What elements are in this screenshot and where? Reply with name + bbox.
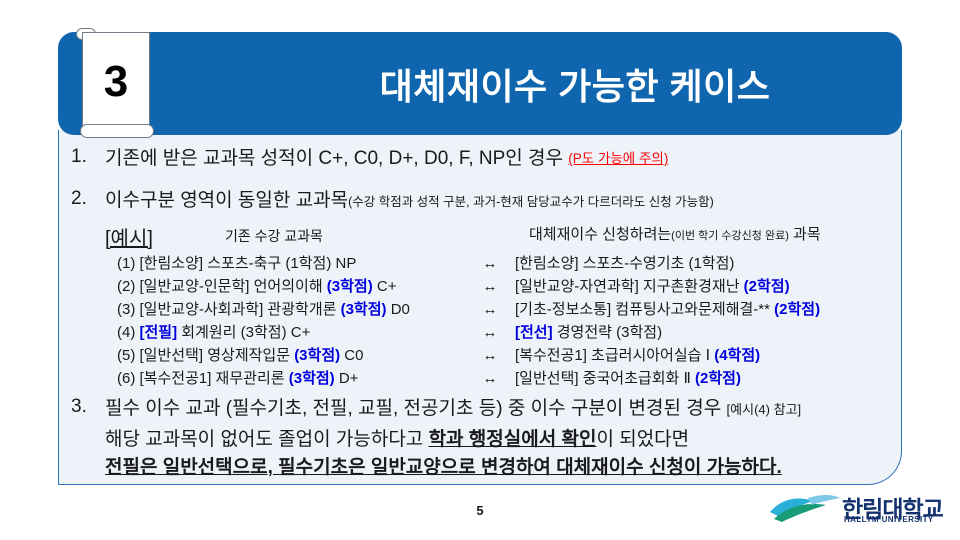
list-item-1-note: (P도 가능에 주의) — [568, 151, 668, 166]
example-block: [예시] 기존 수강 교과목 대체재이수 신청하려는(이번 학기 수강신청 완료… — [105, 222, 895, 248]
example-row-right-credit: (2학점) — [774, 301, 820, 318]
example-row: (3) [일반교양-사회과학] 관광학개론 (3학점) D0 ↔ [기초-정보소… — [105, 298, 895, 321]
exchange-arrow-icon: ↔ — [467, 324, 513, 341]
exchange-arrow-icon: ↔ — [467, 255, 513, 272]
example-row-left-credit: (3학점) — [341, 301, 387, 318]
example-row-left-pre: [복수전공1] 재무관리론 — [140, 370, 289, 387]
example-row-left-post: 회계원리 (3학점) C+ — [177, 324, 310, 341]
list-item-1-text: 기존에 받은 교과목 성적이 C+, C0, D+, D0, F, NP인 경우 — [105, 148, 563, 169]
example-row-left-credit: (3학점) — [289, 370, 335, 387]
list-item-3-line2: 해당 교과목이 없어도 졸업이 가능하다고 학과 행정실에서 확인이 되었다면 — [105, 424, 689, 451]
example-row-right-post: 경영전략 (3학점) — [553, 324, 662, 341]
list-item-3-line3: 전필은 일반선택으로, 필수기초은 일반교양으로 변경하여 대체재이수 신청이 … — [105, 452, 782, 479]
example-row-right-pre: [한림소양] 스포츠-수영기초 (1학점) — [515, 255, 734, 272]
example-header-right-note: (이번 학기 수강신청 완료) — [671, 230, 789, 242]
example-row-left-credit: (3학점) — [327, 278, 373, 295]
exchange-arrow-icon: ↔ — [467, 301, 513, 318]
example-row-right: [일반교양-자연과학] 지구촌환경재난 (2학점) — [513, 275, 895, 296]
list-item-2-note: (수강 학점과 성적 구분, 과거-현재 담당교수가 다르더라도 신청 가능함) — [348, 195, 714, 209]
example-row-left-pre: [일반교양-인문학] 언어의이해 — [140, 278, 327, 295]
example-row-left-post: C+ — [373, 278, 397, 295]
example-row-right-credit: (4학점) — [714, 347, 760, 364]
example-row-right-pre: [복수전공1] 초급러시아어실습 Ⅰ — [515, 347, 714, 364]
example-row-index: (3) — [117, 301, 135, 318]
wave-mark-icon — [768, 492, 842, 524]
scroll-curl-bottom-icon — [80, 124, 154, 138]
content-panel: 1. 기존에 받은 교과목 성적이 C+, C0, D+, D0, F, NP인… — [58, 130, 902, 485]
example-row-right: [일반선택] 중국어초급회화 Ⅱ (2학점) — [513, 367, 895, 388]
university-logo: 한림대학교 HALLYM UNIVERSITY — [768, 484, 944, 532]
list-item-2-body: 이수구분 영역이 동일한 교과목(수강 학점과 성적 구분, 과거-현재 담당교… — [105, 188, 714, 214]
list-item-2: 2. 이수구분 영역이 동일한 교과목(수강 학점과 성적 구분, 과거-현재 … — [71, 188, 891, 214]
list-item-3-line2-pre: 해당 교과목이 없어도 졸업이 가능하다고 — [105, 429, 429, 450]
example-row-left-post: D0 — [387, 301, 410, 318]
section-number: 3 — [82, 32, 150, 132]
list-item-2-text: 이수구분 영역이 동일한 교과목 — [105, 190, 348, 211]
example-row-left-credit: (3학점) — [294, 347, 340, 364]
example-row: (4) [전필] 회계원리 (3학점) C+ ↔ [전선] 경영전략 (3학점) — [105, 321, 895, 344]
example-row-right-pre: [일반선택] 중국어초급회화 Ⅱ — [515, 370, 695, 387]
example-row-left-pre: [일반교양-사회과학] 관광학개론 — [140, 301, 341, 318]
example-row-left-pre: [한림소양] 스포츠-축구 (1학점) NP — [140, 255, 357, 272]
list-item-1: 1. 기존에 받은 교과목 성적이 C+, C0, D+, D0, F, NP인… — [71, 146, 891, 172]
list-item-3-body: 필수 이수 교과 (필수기초, 전필, 교필, 전공기초 등) 중 이수 구분이… — [105, 396, 801, 422]
list-item-3-number: 3. — [71, 396, 105, 418]
example-row-left: (5) [일반선택] 영상제작입문 (3학점) C0 — [105, 344, 467, 365]
example-row-index: (4) — [117, 324, 135, 341]
section-number-badge: 3 — [76, 26, 158, 141]
example-row-left: (3) [일반교양-사회과학] 관광학개론 (3학점) D0 — [105, 298, 467, 319]
example-row-right: [복수전공1] 초급러시아어실습 Ⅰ (4학점) — [513, 344, 895, 365]
example-row: (1) [한림소양] 스포츠-축구 (1학점) NP ↔ [한림소양] 스포츠-… — [105, 252, 895, 275]
list-item-3-line2-emphasis: 학과 행정실에서 확인 — [429, 429, 597, 450]
exchange-arrow-icon: ↔ — [467, 370, 513, 387]
example-row-right-credit: [전선] — [515, 324, 553, 341]
example-row: (5) [일반선택] 영상제작입문 (3학점) C0 ↔ [복수전공1] 초급러… — [105, 344, 895, 367]
example-row-left-post: D+ — [335, 370, 359, 387]
example-row-left-pre: [일반선택] 영상제작입문 — [140, 347, 295, 364]
exchange-arrow-icon: ↔ — [467, 347, 513, 364]
list-item-1-body: 기존에 받은 교과목 성적이 C+, C0, D+, D0, F, NP인 경우… — [105, 146, 668, 172]
exchange-arrow-icon: ↔ — [467, 278, 513, 295]
example-row-right-credit: (2학점) — [695, 370, 741, 387]
example-row-index: (5) — [117, 347, 135, 364]
list-item-3: 3. 필수 이수 교과 (필수기초, 전필, 교필, 전공기초 등) 중 이수 … — [71, 396, 901, 422]
example-row: (6) [복수전공1] 재무관리론 (3학점) D+ ↔ [일반선택] 중국어초… — [105, 367, 895, 390]
example-row-left-credit: [전필] — [140, 324, 178, 341]
list-item-3-line1: 필수 이수 교과 (필수기초, 전필, 교필, 전공기초 등) 중 이수 구분이… — [105, 398, 721, 419]
example-header-right-main2: 과목 — [789, 226, 821, 243]
example-row-right: [기초-정보소통] 컴퓨팅사고와문제해결-** (2학점) — [513, 298, 895, 319]
example-row-index: (6) — [117, 370, 135, 387]
example-row-left: (1) [한림소양] 스포츠-축구 (1학점) NP — [105, 252, 467, 273]
list-item-3-line1-note: [예시(4) 참고] — [727, 402, 802, 417]
example-row-right: [전선] 경영전략 (3학점) — [513, 321, 895, 342]
example-row-left: (6) [복수전공1] 재무관리론 (3학점) D+ — [105, 367, 467, 388]
example-row-index: (1) — [117, 255, 135, 272]
list-item-1-number: 1. — [71, 146, 105, 168]
example-header-left: 기존 수강 교과목 — [225, 226, 323, 246]
content-body: 1. 기존에 받은 교과목 성적이 C+, C0, D+, D0, F, NP인… — [59, 130, 903, 485]
example-row-right: [한림소양] 스포츠-수영기초 (1학점) — [513, 252, 895, 273]
list-item-2-number: 2. — [71, 188, 105, 210]
example-rows: (1) [한림소양] 스포츠-축구 (1학점) NP ↔ [한림소양] 스포츠-… — [105, 252, 895, 390]
example-row-right-pre: [기초-정보소통] 컴퓨팅사고와문제해결-** — [515, 301, 774, 318]
slide-header-bar: 대체재이수 가능한 케이스 — [58, 32, 902, 135]
example-header-right: 대체재이수 신청하려는(이번 학기 수강신청 완료) 과목 — [529, 223, 821, 244]
example-header-right-main1: 대체재이수 신청하려는 — [529, 226, 671, 243]
example-row-left-post: C0 — [340, 347, 363, 364]
list-item-3-line2-post: 이 되었다면 — [596, 429, 689, 450]
slide-root: 1. 기존에 받은 교과목 성적이 C+, C0, D+, D0, F, NP인… — [0, 0, 960, 540]
example-header-row: [예시] 기존 수강 교과목 대체재이수 신청하려는(이번 학기 수강신청 완료… — [105, 222, 895, 248]
example-row-right-pre: [일반교양-자연과학] 지구촌환경재난 — [515, 278, 744, 295]
university-name-en: HALLYM UNIVERSITY — [844, 515, 934, 524]
example-row-left: (2) [일반교양-인문학] 언어의이해 (3학점) C+ — [105, 275, 467, 296]
example-row-left: (4) [전필] 회계원리 (3학점) C+ — [105, 321, 467, 342]
example-row-index: (2) — [117, 278, 135, 295]
page-title: 대체재이수 가능한 케이스 — [248, 58, 902, 110]
example-row: (2) [일반교양-인문학] 언어의이해 (3학점) C+ ↔ [일반교양-자연… — [105, 275, 895, 298]
example-label: [예시] — [105, 222, 153, 251]
example-row-right-credit: (2학점) — [744, 278, 790, 295]
